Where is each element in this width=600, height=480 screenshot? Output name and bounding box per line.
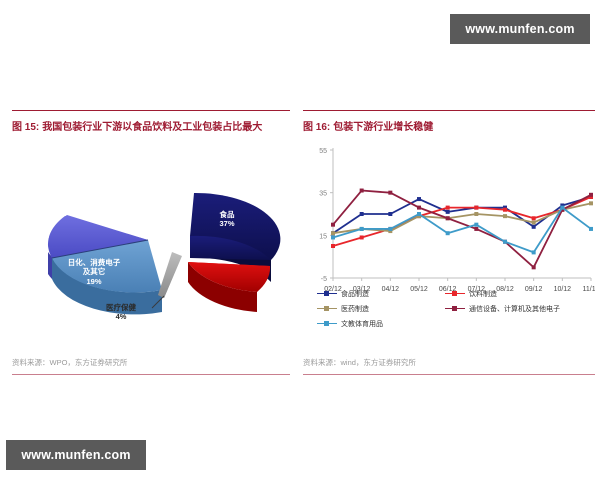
legend-swatch-icon	[445, 305, 465, 313]
legend-swatch-icon	[317, 320, 337, 328]
legend-item-1[interactable]: 饮料制造	[445, 289, 595, 299]
figure-16-bottom-rule	[303, 374, 595, 375]
data-point	[388, 191, 392, 195]
data-point	[388, 227, 392, 231]
legend-swatch-icon	[445, 290, 465, 298]
figure-15: 图 15:我国包装行业下游以食品饮料及工业包装占比最大	[12, 110, 290, 375]
legend-swatch-icon	[317, 305, 337, 313]
data-point	[503, 208, 507, 212]
data-point	[589, 193, 593, 197]
legend-label: 饮料制造	[469, 289, 497, 299]
figure-15-top-rule	[12, 110, 290, 111]
legend-item-4[interactable]: 文教体育用品	[317, 319, 445, 329]
data-point	[360, 212, 364, 216]
figure-16-source: 资料来源：wind，东方证券研究所	[303, 357, 416, 368]
data-point	[331, 231, 335, 235]
data-point	[474, 212, 478, 216]
watermark-bottom: www.munfen.com	[6, 440, 146, 470]
pie-slice-medical	[158, 252, 182, 298]
line-chart-legend: 食品制造饮料制造医药制造通信设备、计算机及其他电子文教体育用品	[317, 286, 595, 331]
data-point	[446, 216, 450, 220]
figure-15-bottom-rule	[12, 374, 290, 375]
data-point	[589, 227, 593, 231]
y-tick-label: -5	[321, 276, 327, 283]
legend-item-0[interactable]: 食品制造	[317, 289, 445, 299]
figure-16-number: 图 16:	[303, 122, 330, 133]
data-point	[446, 210, 450, 214]
data-point	[388, 212, 392, 216]
data-point	[417, 212, 421, 216]
data-point	[532, 225, 536, 229]
legend-item-2[interactable]: 医药制造	[317, 304, 445, 314]
data-point	[474, 223, 478, 227]
data-point	[446, 206, 450, 210]
data-point	[532, 221, 536, 225]
figure-16: 图 16:包装下游行业增长稳健 -515355502/1203/1204/120…	[303, 110, 595, 375]
pie-chart-svg	[12, 140, 290, 335]
y-tick-label: 55	[319, 148, 327, 155]
figure-15-title: 图 15:我国包装行业下游以食品饮料及工业包装占比最大	[12, 118, 290, 133]
legend-label: 食品制造	[341, 289, 369, 299]
data-point	[417, 197, 421, 201]
data-point	[446, 231, 450, 235]
legend-swatch-icon	[317, 290, 337, 298]
data-point	[360, 189, 364, 193]
figure-16-title-text: 包装下游行业增长稳健	[333, 122, 433, 133]
watermark-top: www.munfen.com	[450, 14, 590, 44]
legend-label: 文教体育用品	[341, 319, 383, 329]
line-series-1	[333, 197, 591, 246]
legend-item-3[interactable]: 通信设备、计算机及其他电子	[445, 304, 595, 314]
data-point	[474, 206, 478, 210]
data-point	[360, 235, 364, 239]
data-point	[532, 265, 536, 269]
data-point	[331, 235, 335, 239]
data-point	[560, 206, 564, 210]
figure-15-source: 资料来源：WPO，东方证券研究所	[12, 357, 127, 368]
data-point	[417, 206, 421, 210]
pie-chart: 工业包装 27% 日化、消费电子 及其它 19% 食品 37% 医疗保健 4%	[12, 140, 290, 335]
figure-15-number: 图 15:	[12, 122, 39, 133]
figure-15-title-text: 我国包装行业下游以食品饮料及工业包装占比最大	[42, 122, 262, 133]
data-point	[474, 227, 478, 231]
data-point	[589, 201, 593, 205]
figure-16-top-rule	[303, 110, 595, 111]
y-tick-label: 15	[319, 233, 327, 240]
data-point	[331, 244, 335, 248]
y-tick-label: 35	[319, 191, 327, 198]
page-root: www.munfen.com 图 15:我国包装行业下游以食品饮料及工业包装占比…	[0, 0, 600, 480]
data-point	[532, 250, 536, 254]
data-point	[331, 223, 335, 227]
legend-label: 医药制造	[341, 304, 369, 314]
legend-label: 通信设备、计算机及其他电子	[469, 304, 560, 314]
figure-16-title: 图 16:包装下游行业增长稳健	[303, 118, 595, 133]
data-point	[360, 227, 364, 231]
data-point	[503, 240, 507, 244]
data-point	[503, 214, 507, 218]
data-point	[532, 216, 536, 220]
